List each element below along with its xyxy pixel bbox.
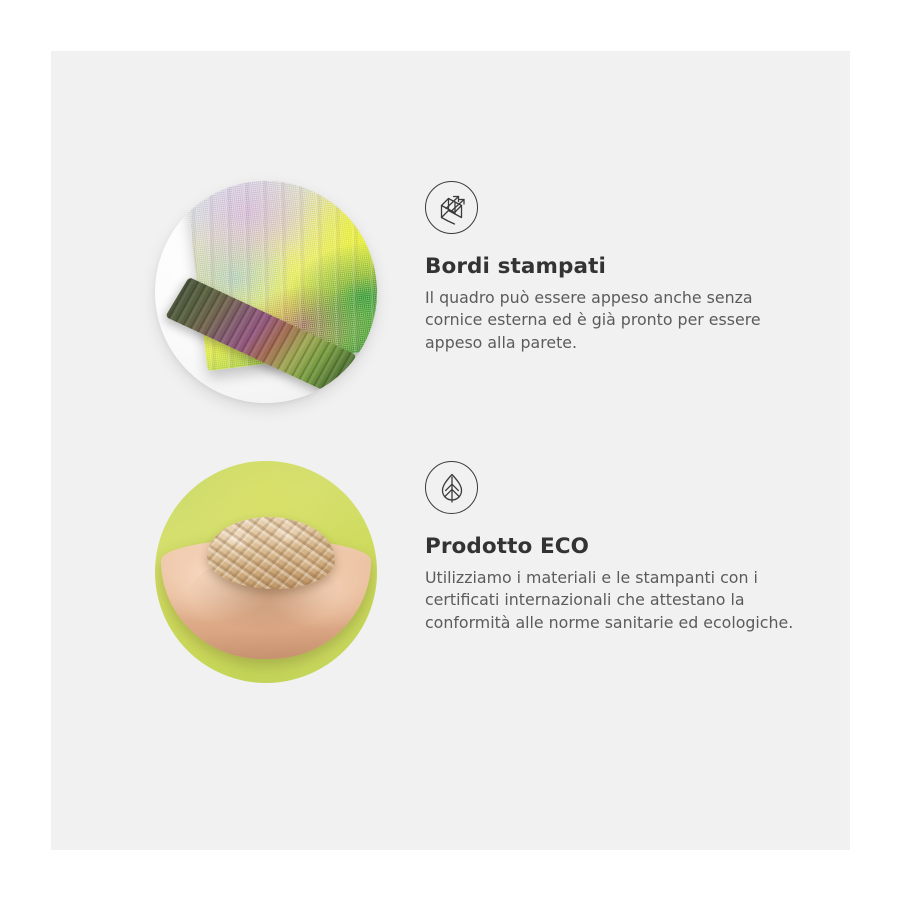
leaf-icon xyxy=(425,461,478,514)
feature-title: Bordi stampati xyxy=(425,254,797,280)
feature-title: Prodotto ECO xyxy=(425,534,797,560)
canvas-corner-photo-circle xyxy=(155,181,377,403)
feature-text-printed-edges: Bordi stampati Il quadro può essere appe… xyxy=(425,181,797,354)
printed-edges-icon xyxy=(425,181,478,234)
wood-chips-in-hands-photo xyxy=(155,461,377,683)
content-panel: Bordi stampati Il quadro può essere appe… xyxy=(51,51,850,850)
wood-chips-photo-circle xyxy=(155,461,377,683)
feature-description: Il quadro può essere appeso anche senza … xyxy=(425,287,797,354)
feature-description: Utilizziamo i materiali e le stampanti c… xyxy=(425,567,797,634)
canvas-corner-photo xyxy=(155,181,377,403)
feature-text-eco-product: Prodotto ECO Utilizziamo i materiali e l… xyxy=(425,461,797,634)
wood-chips-pile xyxy=(207,517,335,589)
product-feature-page: Bordi stampati Il quadro può essere appe… xyxy=(0,0,900,900)
